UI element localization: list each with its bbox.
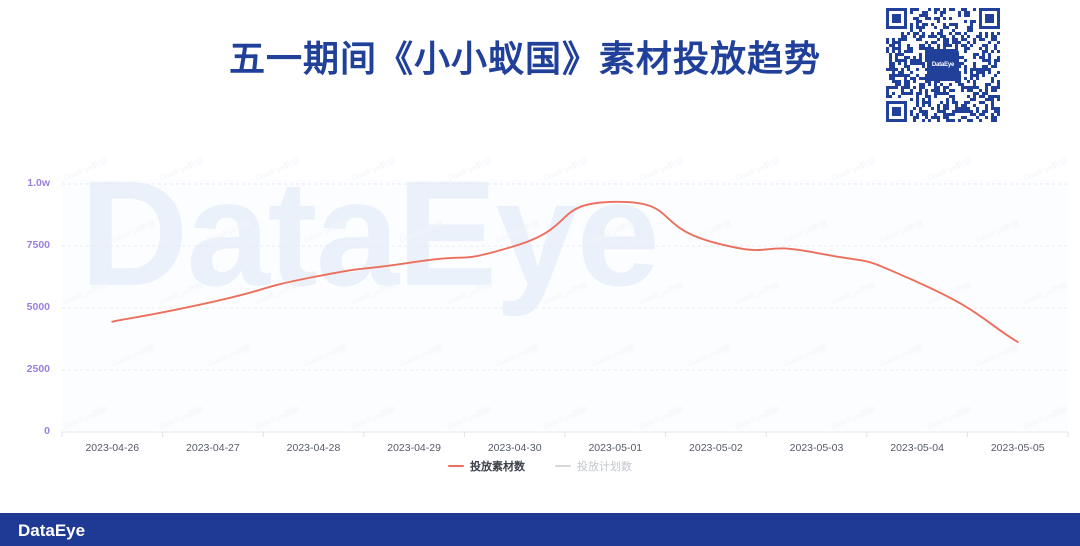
y-axis-tick-label: 5000: [4, 301, 50, 313]
x-axis-tick-label: 2023-04-29: [364, 442, 464, 454]
footer-logo: DataEye: [18, 521, 85, 541]
y-axis-tick-label: 0: [4, 425, 50, 437]
x-axis-tick-label: 2023-04-26: [62, 442, 162, 454]
page-header: 五一期间《小小蚁国》素材投放趋势 DataEye: [0, 0, 1080, 140]
chart-legend: 投放素材数投放计划数: [0, 455, 1080, 477]
chart-gridlines: [62, 184, 1068, 432]
x-axis-tick-label: 2023-04-28: [264, 442, 364, 454]
y-axis-tick-label: 1.0w: [4, 177, 50, 189]
x-axis-tick-label: 2023-05-02: [666, 442, 766, 454]
legend-swatch-icon: [555, 465, 571, 467]
legend-swatch-icon: [448, 465, 464, 467]
qr-code-logo: DataEye: [927, 49, 959, 81]
legend-label: 投放计划数: [577, 458, 632, 474]
x-axis-tick-label: 2023-04-30: [465, 442, 565, 454]
legend-item-1[interactable]: 投放计划数: [555, 458, 632, 474]
y-axis-tick-label: 7500: [4, 239, 50, 251]
footer-bar: DataEye: [0, 513, 1080, 546]
series-line-0: [112, 202, 1017, 342]
x-axis-tick-label: 2023-05-04: [867, 442, 967, 454]
x-axis-tick-label: 2023-05-03: [767, 442, 867, 454]
x-axis-tick-label: 2023-04-27: [163, 442, 263, 454]
qr-code[interactable]: DataEye: [886, 8, 1000, 122]
x-axis-tick-label: 2023-05-01: [565, 442, 665, 454]
legend-item-0[interactable]: 投放素材数: [448, 458, 525, 474]
chart-container: DataEye DataEye数据DataEye数据DataEye数据DataE…: [0, 150, 1080, 490]
x-axis-tick-label: 2023-05-05: [968, 442, 1068, 454]
legend-label: 投放素材数: [470, 458, 525, 474]
chart-series: [112, 202, 1017, 342]
chart-x-ticks: [62, 432, 1068, 437]
chart-plot: [0, 150, 1080, 490]
y-axis-tick-label: 2500: [4, 363, 50, 375]
